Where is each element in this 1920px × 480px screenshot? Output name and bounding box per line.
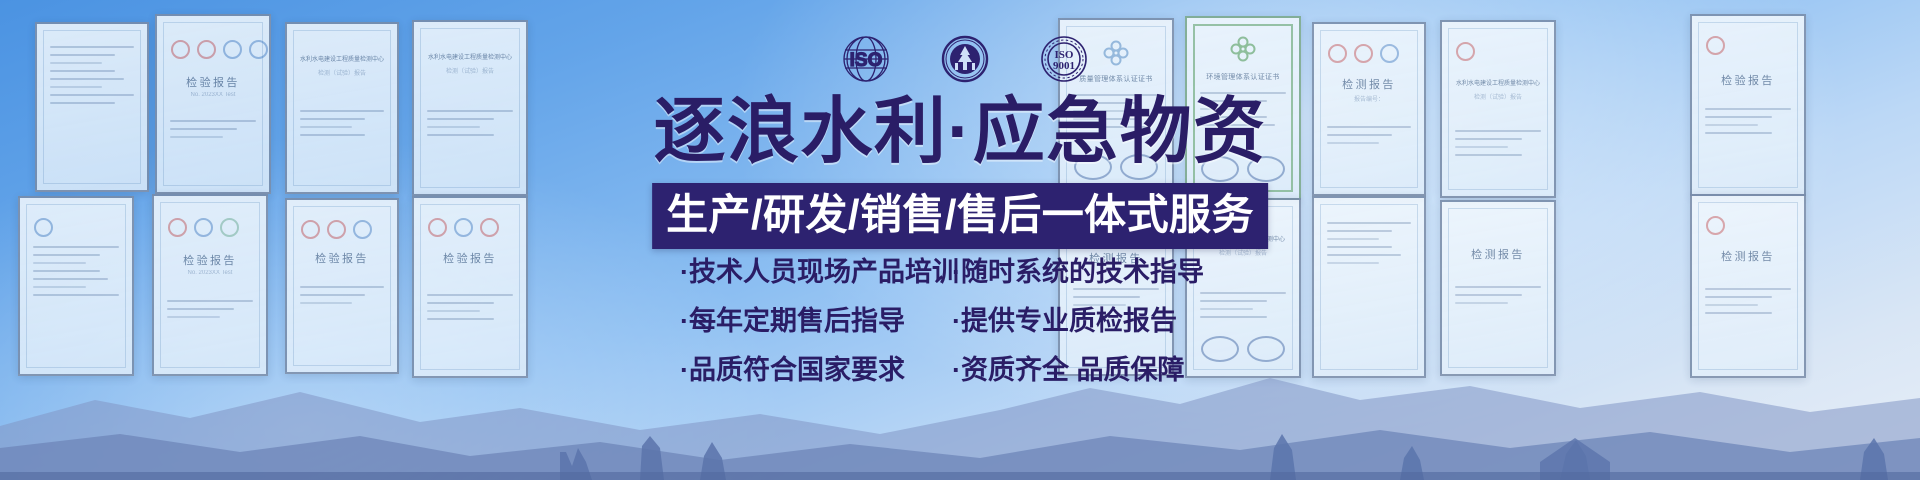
iso-9001-seal-badge: ISO 9001 (1038, 33, 1090, 85)
svg-text:9001: 9001 (1053, 60, 1075, 72)
feature-item: ·品质符合国家要求 (680, 354, 952, 386)
svg-text:ISO: ISO (850, 50, 883, 71)
feature-item: ·资质齐全 品质保障 (952, 354, 1240, 386)
feature-item: ·技术人员现场产品培训 (680, 256, 952, 288)
feature-list: ·技术人员现场产品培训 ·随时系统的技术指导 ·每年定期售后指导 ·提供专业质检… (680, 256, 1240, 386)
iso-globe-badge: ISO (840, 33, 892, 85)
certification-badges: ISO (840, 32, 1090, 86)
promotional-banner: 检验报告 No. 2023XX Test 水利水电建设工程质量检测中心 检测（试… (0, 0, 1920, 480)
page-title: 逐浪水利·应急物资 (0, 96, 1920, 168)
feature-item: ·随时系统的技术指导 (952, 256, 1240, 288)
feature-item: ·每年定期售后指导 (680, 305, 952, 337)
feature-item: ·提供专业质检报告 (952, 305, 1240, 337)
banner-content: ISO (0, 0, 1920, 480)
certification-emblem-badge (939, 33, 991, 85)
service-scope-bar: 生产/研发/销售/售后一体式服务 (652, 183, 1268, 249)
